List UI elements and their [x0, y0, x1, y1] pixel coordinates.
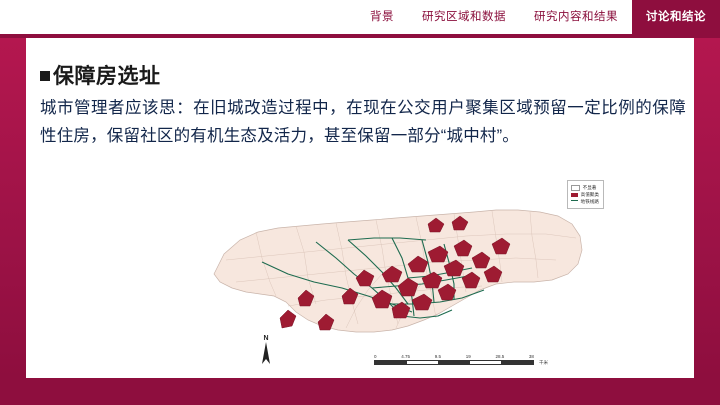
right-accent-bar	[694, 38, 720, 378]
legend-row-not-significant: 不显著	[571, 184, 599, 191]
scalebar-tick-5: 38	[529, 354, 534, 359]
scalebar-tick-0: 0	[374, 354, 377, 359]
left-accent-bar	[0, 38, 26, 378]
legend-label-metro-line: 地铁线路	[581, 198, 599, 205]
legend-row-metro-line: 地铁线路	[571, 198, 599, 205]
north-arrow-icon	[259, 342, 273, 364]
legend-row-high-value-cluster: 高值聚类	[571, 191, 599, 198]
legend-swatch-high-value-cluster	[571, 193, 578, 197]
legend-line-metro	[571, 200, 578, 201]
legend-swatch-not-significant	[571, 185, 580, 191]
scalebar-tick-1: 4.75	[401, 354, 410, 359]
scalebar-tick-3: 19	[466, 354, 471, 359]
scalebar-unit-label: 千米	[539, 360, 548, 366]
north-arrow: N	[258, 335, 274, 369]
slide-content: 保障房选址 城市管理者应该思：在旧城改造过程中，在现在公交用户聚集区域预留一定比…	[26, 38, 694, 378]
bottom-accent-bar	[0, 378, 720, 405]
legend-label-not-significant: 不显著	[583, 184, 597, 191]
north-arrow-label: N	[258, 335, 274, 342]
page-title-text: 保障房选址	[53, 60, 161, 90]
nav-item-research-content-and-results[interactable]: 研究内容和结果	[520, 0, 632, 34]
nav-item-study-area-and-data[interactable]: 研究区域和数据	[408, 0, 520, 34]
nav-item-discussion-and-conclusion[interactable]: 讨论和结论	[632, 0, 720, 34]
scalebar-bar	[374, 360, 534, 365]
scalebar-tick-4: 28.5	[495, 354, 504, 359]
scalebar-tick-labels: 0 4.75 9.5 19 28.5 38	[374, 354, 534, 359]
legend-label-high-value-cluster: 高值聚类	[581, 191, 599, 198]
bullet-square-icon	[40, 71, 50, 81]
scalebar-tick-2: 9.5	[435, 354, 441, 359]
page-title: 保障房选址	[40, 60, 161, 90]
map-legend: 不显著 高值聚类 地铁线路	[567, 180, 604, 209]
nav-item-background[interactable]: 背景	[356, 0, 408, 34]
body-paragraph: 城市管理者应该思：在旧城改造过程中，在现在公交用户聚集区域预留一定比例的保障性住…	[40, 94, 686, 150]
top-navigation-bar: 背景 研究区域和数据 研究内容和结果 讨论和结论	[0, 0, 720, 34]
map-figure: 不显著 高值聚类 地铁线路 N 0 4.75 9.5 19	[196, 178, 616, 373]
map-scalebar: 0 4.75 9.5 19 28.5 38 千米	[374, 354, 534, 365]
